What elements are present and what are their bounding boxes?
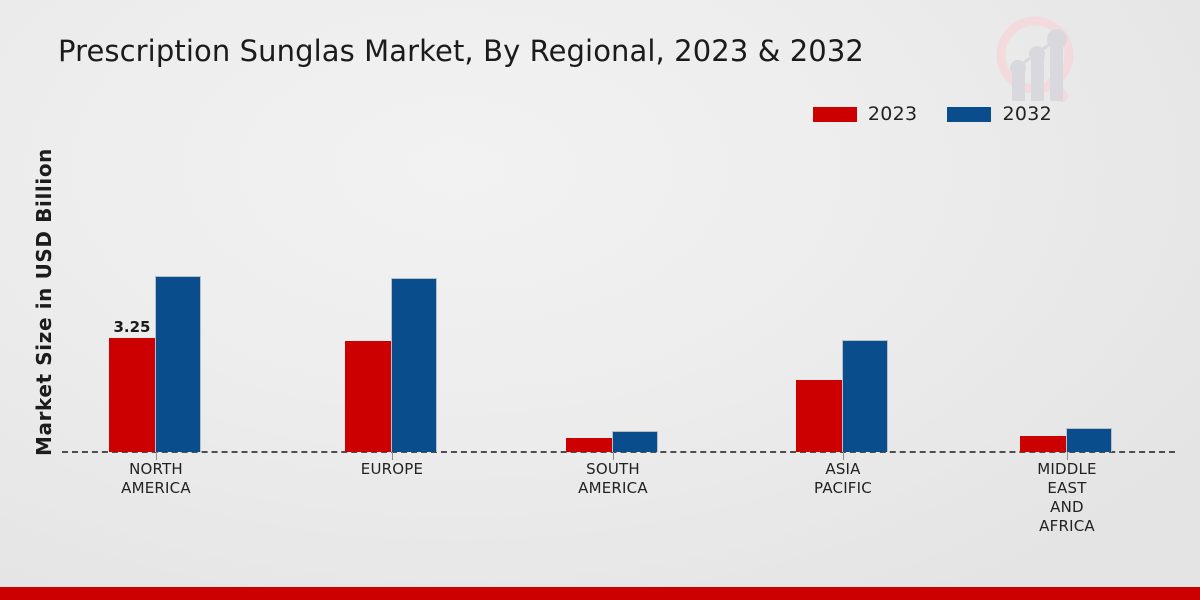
- chart-page: Prescription Sunglas Market, By Regional…: [0, 0, 1200, 600]
- bar-2032-asia-pacific[interactable]: [842, 340, 888, 452]
- bar-value-label: 3.25: [109, 318, 155, 336]
- bar-pair: [1020, 428, 1112, 452]
- x-axis-tick: [392, 452, 393, 460]
- bar-2032-middle-east-and-africa[interactable]: [1066, 428, 1112, 452]
- x-axis-label-north-america: NORTHAMERICA: [56, 460, 256, 498]
- bar-2023-asia-pacific[interactable]: [796, 380, 842, 452]
- bar-2023-europe[interactable]: [345, 341, 391, 452]
- bar-2023-middle-east-and-africa[interactable]: [1020, 436, 1066, 452]
- bar-pair: [345, 278, 437, 452]
- bar-2023-south-america[interactable]: [566, 438, 612, 452]
- x-axis-tick: [156, 452, 157, 460]
- bar-pair: [796, 340, 888, 452]
- bar-pair: [566, 431, 658, 452]
- bar-2032-europe[interactable]: [391, 278, 437, 452]
- bar-2032-north-america[interactable]: [155, 276, 201, 452]
- plot-area: 3.25NORTHAMERICAEUROPESOUTHAMERICAASIAPA…: [0, 0, 1200, 560]
- bottom-accent-band: [0, 587, 1200, 600]
- x-axis-label-asia-pacific: ASIAPACIFIC: [743, 460, 943, 498]
- x-axis-label-south-america: SOUTHAMERICA: [513, 460, 713, 498]
- bar-2032-south-america[interactable]: [612, 431, 658, 452]
- x-axis-tick: [1067, 452, 1068, 460]
- x-axis-tick: [613, 452, 614, 460]
- bar-pair: 3.25: [109, 276, 201, 452]
- bar-2023-north-america[interactable]: [109, 338, 155, 452]
- x-axis-tick: [843, 452, 844, 460]
- x-axis-label-middle-east-and-africa: MIDDLEEASTANDAFRICA: [967, 460, 1167, 536]
- x-axis-label-europe: EUROPE: [292, 460, 492, 479]
